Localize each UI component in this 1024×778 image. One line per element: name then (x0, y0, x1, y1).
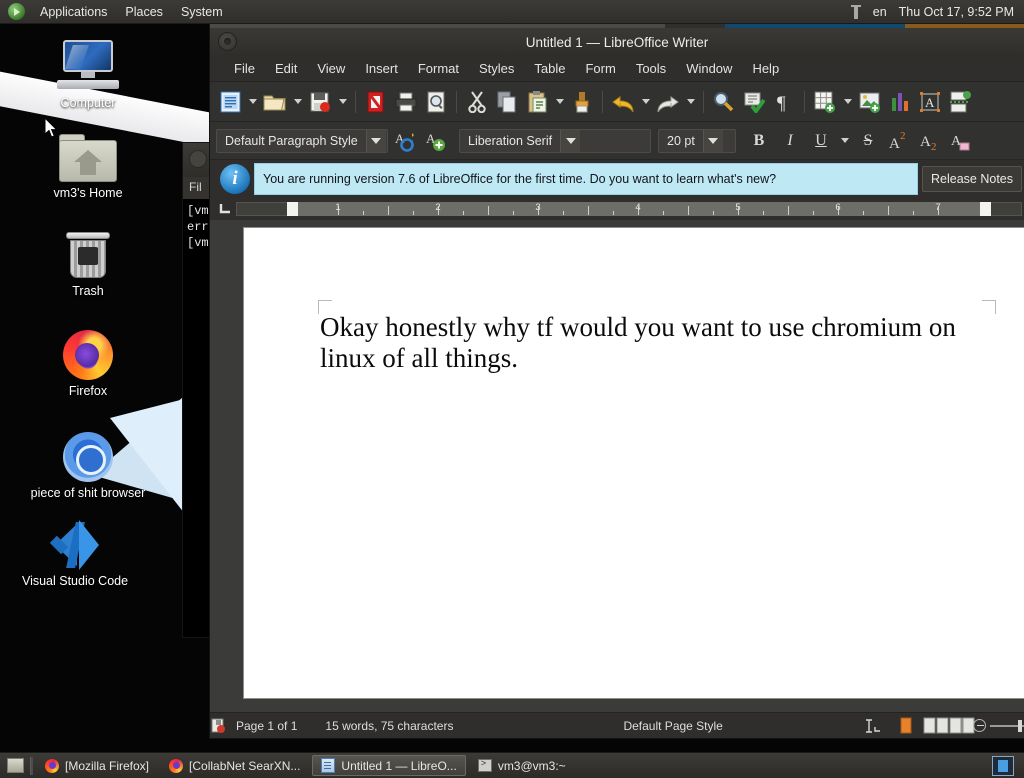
terminal-icon (478, 759, 492, 772)
insert-table-icon[interactable] (811, 88, 839, 116)
document-page[interactable]: Okay honestly why tf would you want to u… (244, 228, 1024, 698)
trash-icon (28, 226, 148, 280)
taskbar-item-label: vm3@vm3:~ (498, 759, 566, 773)
paragraph-style-combo[interactable]: Default Paragraph Style (216, 129, 388, 153)
svg-text:¶: ¶ (777, 93, 786, 113)
panel-menu-places[interactable]: Places (116, 2, 172, 22)
new-document-dropdown-icon[interactable] (246, 88, 259, 116)
unsaved-changes-icon[interactable] (210, 718, 226, 734)
svg-text:A: A (920, 134, 931, 150)
status-bar[interactable]: Page 1 of 1 15 words, 75 characters Defa… (210, 712, 1024, 738)
writer-titlebar[interactable]: Untitled 1 — LibreOffice Writer (210, 28, 1024, 56)
clone-formatting-icon[interactable] (568, 88, 596, 116)
single-page-view-icon[interactable] (897, 717, 917, 734)
paste-icon[interactable] (523, 88, 551, 116)
clear-formatting-icon[interactable]: A (947, 127, 975, 155)
insert-table-dropdown-icon[interactable] (841, 88, 854, 116)
zoom-slider-track[interactable] (990, 725, 1024, 727)
save-dropdown-icon[interactable] (336, 88, 349, 116)
page-count[interactable]: Page 1 of 1 (226, 713, 307, 739)
cut-icon[interactable] (463, 88, 491, 116)
keyboard-layout-label[interactable]: en (873, 5, 887, 19)
new-style-icon[interactable]: A (422, 127, 450, 155)
page-break-icon[interactable] (946, 88, 974, 116)
desktop-icon-label: Firefox (28, 384, 148, 398)
desktop-icon-computer[interactable]: Computer (28, 38, 148, 110)
menu-view[interactable]: View (307, 57, 355, 80)
menu-insert[interactable]: Insert (355, 57, 408, 80)
open-file-icon[interactable] (261, 88, 289, 116)
infobar: i You are running version 7.6 of LibreOf… (210, 160, 1024, 198)
redo-dropdown-icon[interactable] (684, 88, 697, 116)
panel-menu-system[interactable]: System (172, 2, 232, 22)
bold-button[interactable]: B (745, 127, 773, 155)
font-name-dropdown-icon[interactable] (560, 130, 580, 152)
keyboard-indicator-icon[interactable] (851, 5, 861, 19)
firefox-icon (28, 326, 148, 380)
firefox-icon (45, 759, 59, 773)
underline-label: U (815, 132, 827, 150)
bold-label: B (754, 132, 765, 150)
print-preview-icon[interactable] (422, 88, 450, 116)
horizontal-ruler[interactable]: 1 2 3 4 5 6 7 (210, 198, 1024, 220)
strikethrough-button[interactable]: S (854, 127, 882, 155)
document-paragraph[interactable]: Okay honestly why tf would you want to u… (320, 312, 980, 374)
ruler-number: 5 (735, 202, 740, 213)
vscode-icon (14, 516, 136, 570)
desktop-icon-trash[interactable]: Trash (28, 226, 148, 298)
window-title: Untitled 1 — LibreOffice Writer (526, 35, 709, 50)
undo-dropdown-icon[interactable] (639, 88, 652, 116)
ruler-number: 1 (335, 202, 340, 213)
zoom-slider[interactable] (973, 719, 1024, 732)
desktop-icon-label: vm3's Home (28, 186, 148, 200)
menu-form[interactable]: Form (575, 57, 625, 80)
toolbar-separator (456, 91, 457, 113)
page-style[interactable]: Default Page Style (613, 713, 732, 739)
menu-edit[interactable]: Edit (265, 57, 307, 80)
font-name-value: Liberation Serif (460, 134, 560, 148)
menu-format[interactable]: Format (408, 57, 469, 80)
ruler-bar[interactable]: 1 2 3 4 5 6 7 (236, 202, 1022, 216)
italic-button[interactable]: I (776, 127, 804, 155)
insert-chart-icon[interactable] (886, 88, 914, 116)
toolbar-separator (804, 91, 805, 113)
open-file-dropdown-icon[interactable] (291, 88, 304, 116)
paste-dropdown-icon[interactable] (553, 88, 566, 116)
multi-page-view-icon[interactable] (923, 717, 943, 734)
formatting-marks-icon[interactable]: ¶ (770, 88, 798, 116)
chromium-icon (12, 428, 164, 482)
taskbar-separator (30, 757, 33, 775)
underline-dropdown-icon[interactable] (838, 127, 851, 155)
zoom-slider-knob[interactable] (1018, 720, 1022, 732)
window-menu-button[interactable] (218, 32, 237, 51)
infobar-message: You are running version 7.6 of LibreOffi… (254, 163, 918, 195)
workspace-switcher[interactable] (992, 756, 1014, 776)
find-replace-icon[interactable] (710, 88, 738, 116)
svg-text:A: A (889, 136, 900, 152)
taskbar-item-searxng[interactable]: [CollabNet SearXN... (161, 755, 308, 776)
strikethrough-label: S (864, 132, 873, 150)
menu-table[interactable]: Table (524, 57, 575, 80)
mouse-cursor (45, 118, 59, 138)
update-style-icon[interactable]: A (391, 127, 419, 155)
computer-icon (28, 38, 148, 92)
menu-styles[interactable]: Styles (469, 57, 524, 80)
ruler-corner-icon (214, 198, 236, 220)
underline-button[interactable]: U (807, 127, 835, 155)
insert-image-icon[interactable] (856, 88, 884, 116)
export-pdf-icon[interactable] (362, 88, 390, 116)
svg-text:2: 2 (931, 141, 937, 152)
menu-window[interactable]: Window (676, 57, 742, 80)
taskbar-item-firefox[interactable]: [Mozilla Firefox] (37, 755, 157, 776)
desktop-icon-chromium[interactable]: piece of shit browser (12, 428, 164, 500)
redo-icon[interactable] (654, 88, 682, 116)
svg-text:2: 2 (900, 130, 906, 142)
font-size-combo[interactable]: 20 pt (658, 129, 736, 153)
taskbar[interactable]: [Mozilla Firefox] [CollabNet SearXN... U… (0, 752, 1024, 778)
taskbar-item-label: [Mozilla Firefox] (65, 759, 149, 773)
ruler-number: 2 (435, 202, 440, 213)
writer-menubar[interactable]: File Edit View Insert Format Styles Tabl… (210, 56, 1024, 82)
document-area[interactable]: Okay honestly why tf would you want to u… (210, 220, 1024, 712)
taskbar-item-terminal[interactable]: vm3@vm3:~ (470, 755, 574, 776)
firefox-icon (169, 759, 183, 773)
gnome-foot-icon[interactable] (8, 3, 25, 20)
menu-file[interactable]: File (224, 57, 265, 80)
svg-text:A: A (925, 95, 935, 110)
writer-doc-icon (321, 758, 335, 773)
ruler-number: 7 (935, 202, 940, 213)
desktop-icon-label: piece of shit browser (12, 486, 164, 500)
ruler-number: 6 (835, 202, 840, 213)
menu-help[interactable]: Help (742, 57, 789, 80)
selection-mode-icon[interactable] (853, 713, 895, 739)
panel-menu-applications[interactable]: Applications (31, 2, 116, 22)
text-boundary-corner (982, 300, 996, 314)
paragraph-style-dropdown-icon[interactable] (366, 130, 386, 152)
copy-icon[interactable] (493, 88, 521, 116)
terminal-window-button[interactable] (189, 150, 207, 168)
desktop-icon-label: Trash (28, 284, 148, 298)
ruler-number: 3 (535, 202, 540, 213)
menu-tools[interactable]: Tools (626, 57, 676, 80)
clock[interactable]: Thu Oct 17, 9:52 PM (899, 5, 1014, 19)
taskbar-item-writer[interactable]: Untitled 1 — LibreO... (312, 755, 465, 776)
toolbar-separator (355, 91, 356, 113)
desktop-icon-home[interactable]: vm3's Home (28, 128, 148, 200)
print-icon[interactable] (392, 88, 420, 116)
taskbar-item-label: [CollabNet SearXN... (189, 759, 300, 773)
info-icon: i (220, 164, 250, 194)
new-document-icon[interactable] (216, 88, 244, 116)
toolbar-separator (703, 91, 704, 113)
release-notes-button[interactable]: Release Notes (922, 166, 1022, 192)
desktop-icon-vscode[interactable]: Visual Studio Code (14, 516, 136, 588)
libreoffice-writer-window[interactable]: Untitled 1 — LibreOffice Writer File Edi… (210, 22, 1024, 738)
toolbar-separator (602, 91, 603, 113)
formatting-toolbar[interactable]: Default Paragraph Style A A Liberation S… (210, 122, 1024, 160)
font-size-dropdown-icon[interactable] (703, 130, 723, 152)
paragraph-style-value: Default Paragraph Style (217, 134, 366, 148)
svg-text:A: A (395, 131, 405, 146)
save-icon[interactable] (306, 88, 334, 116)
zoom-out-icon[interactable] (973, 719, 986, 732)
standard-toolbar[interactable]: ¶ A (210, 82, 1024, 122)
desktop-icon-label: Computer (28, 96, 148, 110)
subscript-button[interactable]: A2 (916, 127, 944, 155)
spelling-icon[interactable] (740, 88, 768, 116)
ruler-indent-left-marker[interactable] (287, 202, 298, 216)
undo-icon[interactable] (609, 88, 637, 116)
italic-label: I (787, 132, 792, 150)
taskbar-item-label: Untitled 1 — LibreO... (341, 759, 456, 773)
word-count[interactable]: 15 words, 75 characters (307, 713, 463, 739)
ruler-indent-right-marker[interactable] (980, 202, 991, 216)
desktop-icon-label: Visual Studio Code (14, 574, 136, 588)
book-view-icon[interactable] (949, 717, 969, 734)
superscript-button[interactable]: A2 (885, 127, 913, 155)
font-name-combo[interactable]: Liberation Serif (459, 129, 651, 153)
font-size-value: 20 pt (659, 134, 703, 148)
show-desktop-icon[interactable] (4, 756, 26, 776)
top-panel[interactable]: Applications Places System en Thu Oct 17… (0, 0, 1024, 24)
text-box-icon[interactable]: A (916, 88, 944, 116)
desktop-icon-firefox[interactable]: Firefox (28, 326, 148, 398)
ruler-number: 4 (635, 202, 640, 213)
